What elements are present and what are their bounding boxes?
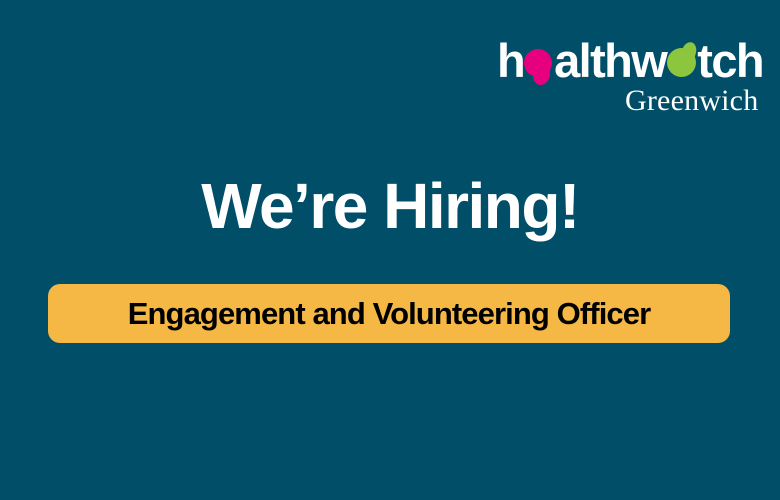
role-title-label: Engagement and Volunteering Officer bbox=[128, 297, 651, 331]
wordmark-letter-w: w bbox=[631, 36, 666, 86]
page-title: We’re Hiring! bbox=[0, 168, 780, 244]
pink-e-blob-icon bbox=[524, 36, 554, 86]
logo-locality-greenwich: Greenwich bbox=[625, 84, 758, 118]
green-a-blob-icon bbox=[666, 36, 697, 86]
role-banner: Engagement and Volunteering Officer bbox=[48, 284, 730, 343]
wordmark-letters-tch: tch bbox=[697, 36, 763, 86]
healthwatch-greenwich-logo: halthwtch Greenwich bbox=[497, 36, 780, 122]
wordmark-letters-alth: alth bbox=[554, 36, 631, 86]
hiring-poster: halthwtch Greenwich We’re Hiring! Engage… bbox=[0, 0, 780, 500]
healthwatch-wordmark: halthwtch bbox=[497, 36, 780, 86]
wordmark-letter-h: h bbox=[497, 36, 524, 86]
